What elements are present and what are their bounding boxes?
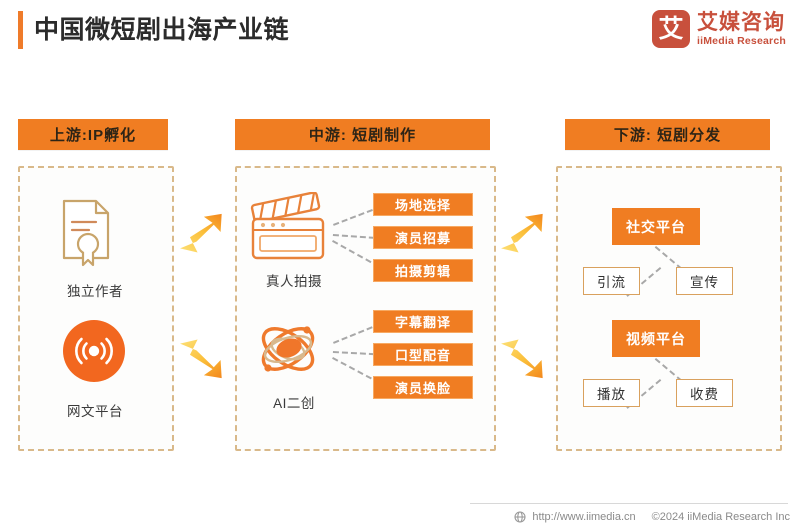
node-label-ai-recreation: AI二创: [244, 392, 344, 412]
leaf-traffic-diversion[interactable]: 引流: [583, 267, 640, 295]
brand-name-en: iiMedia Research: [697, 36, 786, 47]
certificate-icon: [58, 198, 114, 273]
footer-divider: [470, 503, 788, 504]
chip-lipsync-dubbing[interactable]: 口型配音: [373, 343, 473, 366]
chip-actor-faceswap[interactable]: 演员换脸: [373, 376, 473, 399]
leaf-playback[interactable]: 播放: [583, 379, 640, 407]
arrow-up-right-1-icon: [176, 212, 228, 267]
clapperboard-icon: [249, 192, 327, 269]
footer-copyright: ©2024 iiMedia Research Inc: [652, 511, 790, 523]
brand-logo: 艾 艾媒咨询 iiMedia Research: [652, 10, 786, 48]
brand-mark-icon: 艾: [652, 10, 690, 48]
chip-actor-recruitment[interactable]: 演员招募: [373, 226, 473, 249]
globe-icon: [514, 511, 526, 523]
atom-icon: [251, 312, 325, 391]
chip-shooting-editing[interactable]: 拍摄剪辑: [373, 259, 473, 282]
node-label-independent-author: 独立作者: [0, 280, 190, 300]
platform-video[interactable]: 视频平台: [612, 320, 700, 357]
brand-name-cn: 艾媒咨询: [697, 12, 786, 33]
chip-subtitle-translation[interactable]: 字幕翻译: [373, 310, 473, 333]
leaf-promotion[interactable]: 宣传: [676, 267, 733, 295]
page-title: 中国微短剧出海产业链: [34, 12, 289, 48]
node-label-live-action-shooting: 真人拍摄: [244, 270, 344, 290]
stage-header-upstream: 上游:IP孵化: [18, 119, 168, 150]
stage-header-midstream: 中游: 短剧制作: [235, 119, 490, 150]
title-accent-bar: [18, 11, 23, 49]
leaf-charging[interactable]: 收费: [676, 379, 733, 407]
stage-header-downstream: 下游: 短剧分发: [565, 119, 770, 150]
chip-location-selection[interactable]: 场地选择: [373, 193, 473, 216]
arrow-up-right-2-icon: [497, 212, 549, 267]
footer-url[interactable]: http://www.iimedia.cn: [532, 511, 635, 523]
arrow-down-right-1-icon: [176, 330, 228, 385]
page-header: 中国微短剧出海产业链 艾 艾媒咨询 iiMedia Research: [0, 0, 800, 62]
diagram-stage: 上游:IP孵化 中游: 短剧制作 下游: 短剧分发 独立作者 网文平台: [0, 62, 800, 492]
node-label-web-novel-platform: 网文平台: [0, 400, 190, 420]
arrow-down-right-2-icon: [497, 330, 549, 385]
page-footer: http://www.iimedia.cn ©2024 iiMedia Rese…: [470, 508, 790, 526]
broadcast-icon: [63, 320, 125, 382]
brand-text: 艾媒咨询 iiMedia Research: [697, 12, 786, 47]
platform-social[interactable]: 社交平台: [612, 208, 700, 245]
